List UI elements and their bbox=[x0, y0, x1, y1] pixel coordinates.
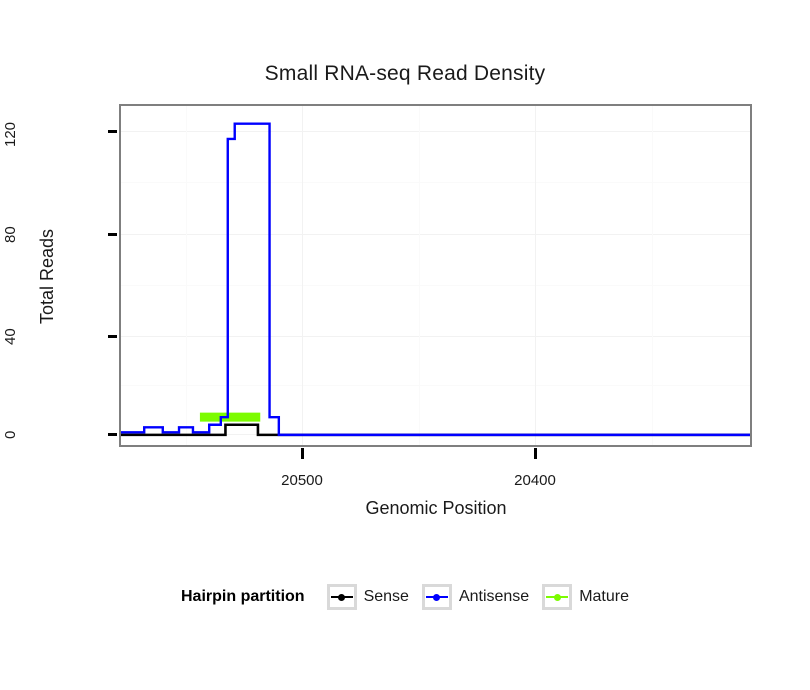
series-layer bbox=[121, 106, 750, 445]
x-tick-label-20400: 20400 bbox=[490, 472, 580, 489]
y-tick-label-40: 40 bbox=[2, 324, 42, 350]
chart-legend: Hairpin partition Sense Antisense Mature bbox=[0, 584, 810, 610]
y-tick-label-120: 120 bbox=[2, 115, 42, 153]
plot-panel bbox=[119, 104, 752, 447]
chart-canvas: Small RNA-seq Read Density Total Reads G… bbox=[0, 0, 810, 690]
y-tick-mark-120 bbox=[108, 130, 117, 133]
legend-entry-sense[interactable]: Sense bbox=[327, 584, 409, 610]
series-line-antisense bbox=[121, 124, 750, 435]
y-tick-mark-0 bbox=[108, 433, 117, 436]
plot-area bbox=[121, 106, 750, 445]
legend-title: Hairpin partition bbox=[181, 588, 305, 606]
legend-label-sense: Sense bbox=[364, 588, 409, 606]
y-tick-label-0: 0 bbox=[2, 424, 42, 446]
x-tick-label-20500: 20500 bbox=[257, 472, 347, 489]
legend-key-antisense bbox=[422, 584, 452, 610]
y-tick-label-80: 80 bbox=[2, 222, 42, 248]
legend-key-mature bbox=[542, 584, 572, 610]
legend-entry-antisense[interactable]: Antisense bbox=[422, 584, 529, 610]
x-tick-mark-20400 bbox=[534, 448, 537, 459]
chart-title: Small RNA-seq Read Density bbox=[0, 62, 810, 86]
x-axis-title: Genomic Position bbox=[119, 498, 753, 519]
legend-entry-mature[interactable]: Mature bbox=[542, 584, 629, 610]
legend-label-antisense: Antisense bbox=[459, 588, 529, 606]
series-line-sense bbox=[121, 425, 750, 435]
legend-key-sense bbox=[327, 584, 357, 610]
x-tick-mark-20500 bbox=[301, 448, 304, 459]
y-tick-mark-40 bbox=[108, 335, 117, 338]
legend-label-mature: Mature bbox=[579, 588, 629, 606]
y-tick-mark-80 bbox=[108, 233, 117, 236]
